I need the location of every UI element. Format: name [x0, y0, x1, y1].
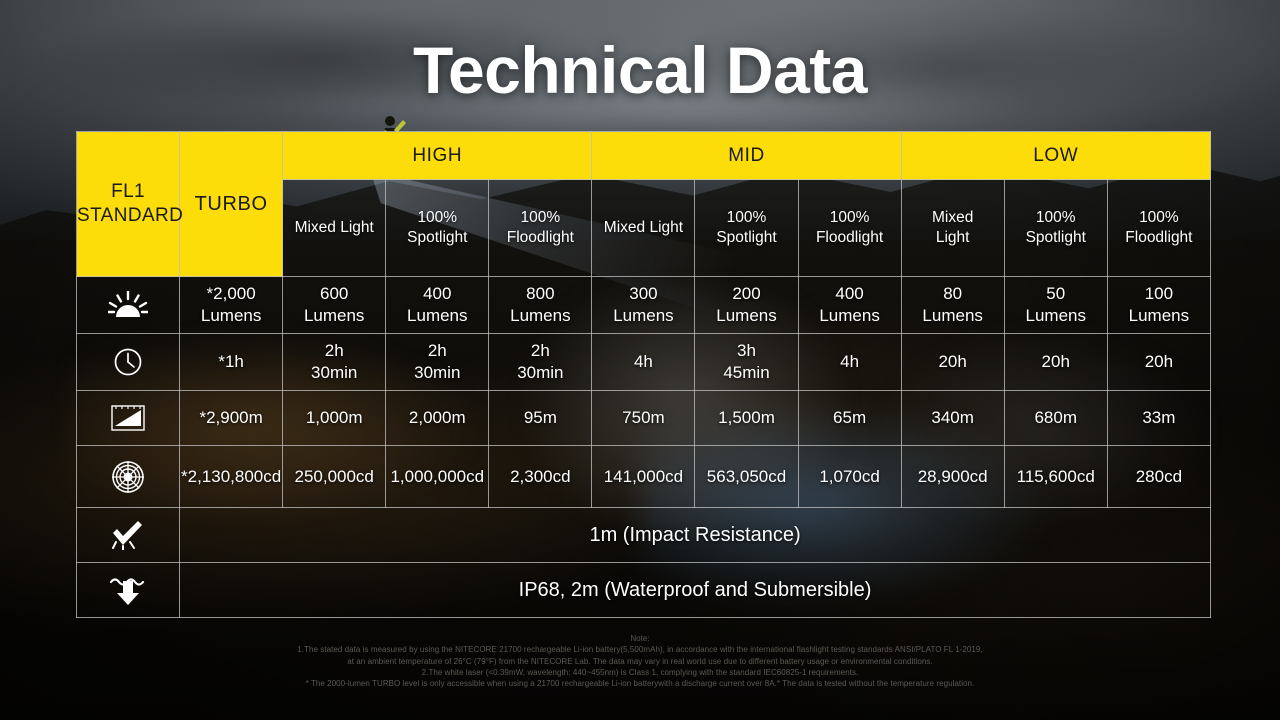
header-group-high: HIGH	[283, 132, 592, 180]
subheader-line1: Mixed	[932, 209, 973, 226]
row-icon-cell	[77, 277, 180, 334]
cell-line1: 100	[1145, 284, 1173, 303]
cell-turbo-lumens: *2,000 Lumens	[180, 277, 283, 334]
cell-low-mixed-intensity: 28,900cd	[901, 446, 1004, 508]
cell-line1: 400	[835, 284, 863, 303]
waterproof-icon	[77, 563, 179, 617]
slide-canvas: Technical Data FL1 STANDARD TURBO HIGH M…	[0, 0, 1280, 720]
cell-high-mixed-lumens: 600 Lumens	[283, 277, 386, 334]
beam-distance-icon	[77, 391, 179, 445]
cell-mid-mixed-intensity: 141,000cd	[592, 446, 695, 508]
cell-high-floodlight-lumens: 800 Lumens	[489, 277, 592, 334]
sunburst-icon	[77, 277, 179, 333]
cell-turbo-distance: *2,900m	[180, 391, 283, 446]
cell-line1: 2h	[325, 341, 344, 360]
cell-high-spotlight-lumens: 400 Lumens	[386, 277, 489, 334]
cell-high-mixed-runtime: 2h 30min	[283, 334, 386, 391]
cell-low-floodlight-runtime: 20h	[1107, 334, 1210, 391]
cell-low-floodlight-distance: 33m	[1107, 391, 1210, 446]
header-group-mid: MID	[592, 132, 901, 180]
cell-low-floodlight-intensity: 280cd	[1107, 446, 1210, 508]
technical-data-table: FL1 STANDARD TURBO HIGH MID LOW Mixed Li…	[76, 131, 1211, 618]
footnote-line: 2.The white laser (<0.39mW, wavelength: …	[0, 667, 1280, 678]
cell-mid-floodlight-distance: 65m	[798, 391, 901, 446]
footnote-block: Note: 1.The stated data is measured by u…	[0, 633, 1280, 690]
cell-line2: Lumens	[1026, 306, 1086, 325]
subheader-line2: Floodlight	[507, 229, 574, 246]
cell-line1: 400	[423, 284, 451, 303]
cell-line1: 3h	[737, 341, 756, 360]
subheader-high-mixed: Mixed Light	[283, 180, 386, 277]
cell-mid-mixed-lumens: 300 Lumens	[592, 277, 695, 334]
row-icon-cell	[77, 391, 180, 446]
table-row-peak-beam-intensity: *2,130,800cd 250,000cd 1,000,000cd 2,300…	[77, 446, 1211, 508]
subheader-line2: Spotlight	[716, 229, 776, 246]
cell-high-floodlight-distance: 95m	[489, 391, 592, 446]
header-group-low: LOW	[901, 132, 1210, 180]
subheader-line2: Light	[936, 229, 970, 246]
subheader-line1: 100%	[1036, 209, 1076, 226]
cell-line2: 30min	[517, 363, 563, 382]
page-title: Technical Data	[0, 32, 1280, 108]
cell-low-floodlight-lumens: 100 Lumens	[1107, 277, 1210, 334]
footnote-line: * The 2000-lumen TURBO level is only acc…	[0, 678, 1280, 689]
subheader-mid-spotlight: 100% Spotlight	[695, 180, 798, 277]
subheader-line2: Floodlight	[1125, 229, 1192, 246]
cell-line1: 4h	[634, 352, 653, 371]
cell-line2: Lumens	[407, 306, 467, 325]
impact-resistance-value: 1m (Impact Resistance)	[180, 508, 1211, 563]
subheader-mid-floodlight: 100% Floodlight	[798, 180, 901, 277]
cell-line1: 2h	[531, 341, 550, 360]
cell-line1: *1h	[218, 352, 244, 371]
cell-line1: 20h	[938, 352, 966, 371]
footnote-line: at an ambient temperature of 26°C (79°F)…	[0, 656, 1280, 667]
row-icon-cell	[77, 446, 180, 508]
cell-high-mixed-intensity: 250,000cd	[283, 446, 386, 508]
subheader-low-floodlight: 100% Floodlight	[1107, 180, 1210, 277]
cell-line2: 45min	[723, 363, 769, 382]
table-row-lumens: *2,000 Lumens 600 Lumens 400 Lumens 800 …	[77, 277, 1211, 334]
table-row-waterproof: IP68, 2m (Waterproof and Submersible)	[77, 563, 1211, 618]
table-row-runtime: *1h 2h 30min 2h 30min 2h 30min 4h	[77, 334, 1211, 391]
cell-mid-mixed-runtime: 4h	[592, 334, 695, 391]
cell-turbo-intensity: *2,130,800cd	[180, 446, 283, 508]
cell-low-mixed-lumens: 80 Lumens	[901, 277, 1004, 334]
cell-low-spotlight-intensity: 115,600cd	[1004, 446, 1107, 508]
cell-mid-mixed-distance: 750m	[592, 391, 695, 446]
subheader-line1: 100%	[521, 209, 561, 226]
subheader-high-floodlight: 100% Floodlight	[489, 180, 592, 277]
subheader-high-spotlight: 100% Spotlight	[386, 180, 489, 277]
cell-line2: Lumens	[1129, 306, 1189, 325]
subheader-mid-mixed: Mixed Light	[592, 180, 695, 277]
cell-line1: 4h	[840, 352, 859, 371]
subheader-line1: 100%	[1139, 209, 1179, 226]
cell-turbo-runtime: *1h	[180, 334, 283, 391]
cell-line1: 80	[943, 284, 962, 303]
header-turbo: TURBO	[180, 132, 283, 277]
cell-high-floodlight-runtime: 2h 30min	[489, 334, 592, 391]
cell-line2: Lumens	[922, 306, 982, 325]
cell-line2: Lumens	[613, 306, 673, 325]
cell-high-spotlight-intensity: 1,000,000cd	[386, 446, 489, 508]
cell-line2: 30min	[311, 363, 357, 382]
subheader-line1: Mixed Light	[295, 219, 374, 236]
impact-resistance-icon	[77, 508, 179, 562]
cell-line1: 20h	[1145, 352, 1173, 371]
header-fl1-standard: FL1 STANDARD	[77, 132, 180, 277]
row-icon-cell	[77, 563, 180, 618]
cell-line1: 300	[629, 284, 657, 303]
cell-low-spotlight-lumens: 50 Lumens	[1004, 277, 1107, 334]
waterproof-value: IP68, 2m (Waterproof and Submersible)	[180, 563, 1211, 618]
subheader-line2: Floodlight	[816, 229, 883, 246]
subheader-line1: 100%	[417, 209, 457, 226]
fl1-line1: FL1	[111, 181, 145, 202]
subheader-line2: Spotlight	[1026, 229, 1086, 246]
cell-line1: 800	[526, 284, 554, 303]
cell-low-spotlight-distance: 680m	[1004, 391, 1107, 446]
cell-low-spotlight-runtime: 20h	[1004, 334, 1107, 391]
cell-line2: 30min	[414, 363, 460, 382]
footnote-line: Note:	[0, 633, 1280, 644]
cell-line1: 200	[732, 284, 760, 303]
cell-low-mixed-runtime: 20h	[901, 334, 1004, 391]
footnote-line: 1.The stated data is measured by using t…	[0, 644, 1280, 655]
cell-mid-spotlight-intensity: 563,050cd	[695, 446, 798, 508]
subheader-line1: 100%	[830, 209, 870, 226]
table-group-header-row: FL1 STANDARD TURBO HIGH MID LOW	[77, 132, 1211, 180]
cell-high-spotlight-runtime: 2h 30min	[386, 334, 489, 391]
cell-high-spotlight-distance: 2,000m	[386, 391, 489, 446]
cell-line1: 20h	[1042, 352, 1070, 371]
subheader-line1: 100%	[727, 209, 767, 226]
cell-mid-floodlight-lumens: 400 Lumens	[798, 277, 901, 334]
subheader-line2: Spotlight	[407, 229, 467, 246]
cell-line2: Lumens	[510, 306, 570, 325]
clock-icon	[77, 334, 179, 390]
table-row-impact-resistance: 1m (Impact Resistance)	[77, 508, 1211, 563]
row-icon-cell	[77, 334, 180, 391]
row-icon-cell	[77, 508, 180, 563]
cell-line1: 2h	[428, 341, 447, 360]
table-row-beam-distance: *2,900m 1,000m 2,000m 95m 750m 1,500m 65…	[77, 391, 1211, 446]
subheader-line1: Mixed Light	[604, 219, 683, 236]
cell-line1: 600	[320, 284, 348, 303]
cell-high-floodlight-intensity: 2,300cd	[489, 446, 592, 508]
cell-line1: 50	[1046, 284, 1065, 303]
cell-mid-spotlight-runtime: 3h 45min	[695, 334, 798, 391]
subheader-low-mixed: Mixed Light	[901, 180, 1004, 277]
cell-mid-spotlight-distance: 1,500m	[695, 391, 798, 446]
cell-high-mixed-distance: 1,000m	[283, 391, 386, 446]
cell-mid-spotlight-lumens: 200 Lumens	[695, 277, 798, 334]
cell-mid-floodlight-intensity: 1,070cd	[798, 446, 901, 508]
cell-line2: Lumens	[716, 306, 776, 325]
cell-line2: Lumens	[304, 306, 364, 325]
cell-line2: Lumens	[201, 306, 261, 325]
cell-mid-floodlight-runtime: 4h	[798, 334, 901, 391]
cell-line2: Lumens	[819, 306, 879, 325]
peak-beam-intensity-icon	[77, 446, 179, 507]
subheader-low-spotlight: 100% Spotlight	[1004, 180, 1107, 277]
cell-low-mixed-distance: 340m	[901, 391, 1004, 446]
cell-line1: *2,000	[207, 284, 256, 303]
fl1-line2: STANDARD	[77, 205, 183, 226]
